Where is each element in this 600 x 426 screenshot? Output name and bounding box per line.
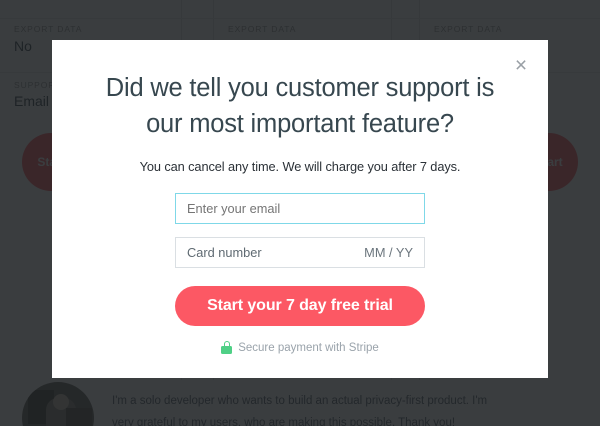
card-expiry-placeholder: MM / YY	[364, 245, 413, 260]
modal-subtitle: You can cancel any time. We will charge …	[52, 142, 548, 174]
signup-modal: × Did we tell you customer support is ou…	[52, 40, 548, 378]
modal-headline: Did we tell you customer support is our …	[52, 40, 548, 142]
screen: EXPORT DATA No SUPPORT Email EXPORT DATA…	[0, 0, 600, 426]
card-number-placeholder: Card number	[187, 245, 262, 260]
signup-form: Card number MM / YY Start your 7 day fre…	[52, 193, 548, 354]
secure-payment-text: Secure payment with Stripe	[238, 342, 379, 354]
email-input[interactable]	[175, 193, 425, 224]
lock-icon	[221, 341, 232, 354]
card-number-input[interactable]: Card number MM / YY	[175, 237, 425, 268]
start-free-trial-button[interactable]: Start your 7 day free trial	[175, 286, 425, 326]
secure-payment-note: Secure payment with Stripe	[221, 341, 379, 354]
close-icon[interactable]: ×	[504, 48, 538, 82]
